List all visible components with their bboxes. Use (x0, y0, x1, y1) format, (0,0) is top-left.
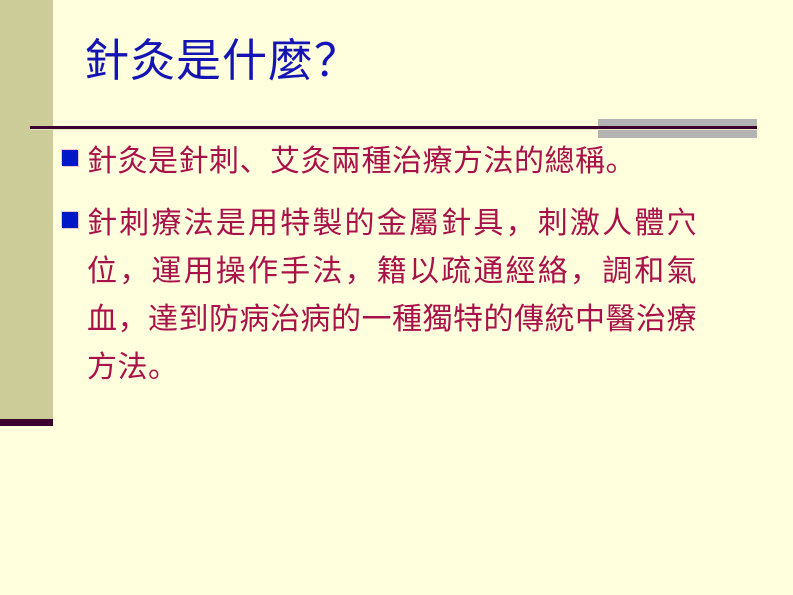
list-item-text: 針刺療法是用特製的金屬針具，刺激人體穴位，運用操作手法，籍以疏通經絡，調和氣血，… (87, 200, 697, 392)
slide-canvas: 針灸是什麼？ 針灸是針刺、艾灸兩種治療方法的總稱。 針刺療法是用特製的金屬針具，… (0, 0, 793, 595)
slide-title: 針灸是什麼？ (84, 30, 744, 92)
title-divider-highlight (30, 129, 757, 130)
square-bullet-icon (62, 212, 78, 228)
list-item-text: 針灸是針刺、艾灸兩種治療方法的總稱。 (87, 138, 687, 186)
slide-body: 針灸是針刺、艾灸兩種治療方法的總稱。 針刺療法是用特製的金屬針具，刺激人體穴位，… (62, 138, 752, 406)
left-accent-band-foot (0, 419, 53, 426)
list-item: 針刺療法是用特製的金屬針具，刺激人體穴位，運用操作手法，籍以疏通經絡，調和氣血，… (62, 200, 752, 392)
list-item: 針灸是針刺、艾灸兩種治療方法的總稱。 (62, 138, 752, 186)
square-bullet-icon (62, 150, 78, 166)
left-accent-band (0, 0, 53, 419)
